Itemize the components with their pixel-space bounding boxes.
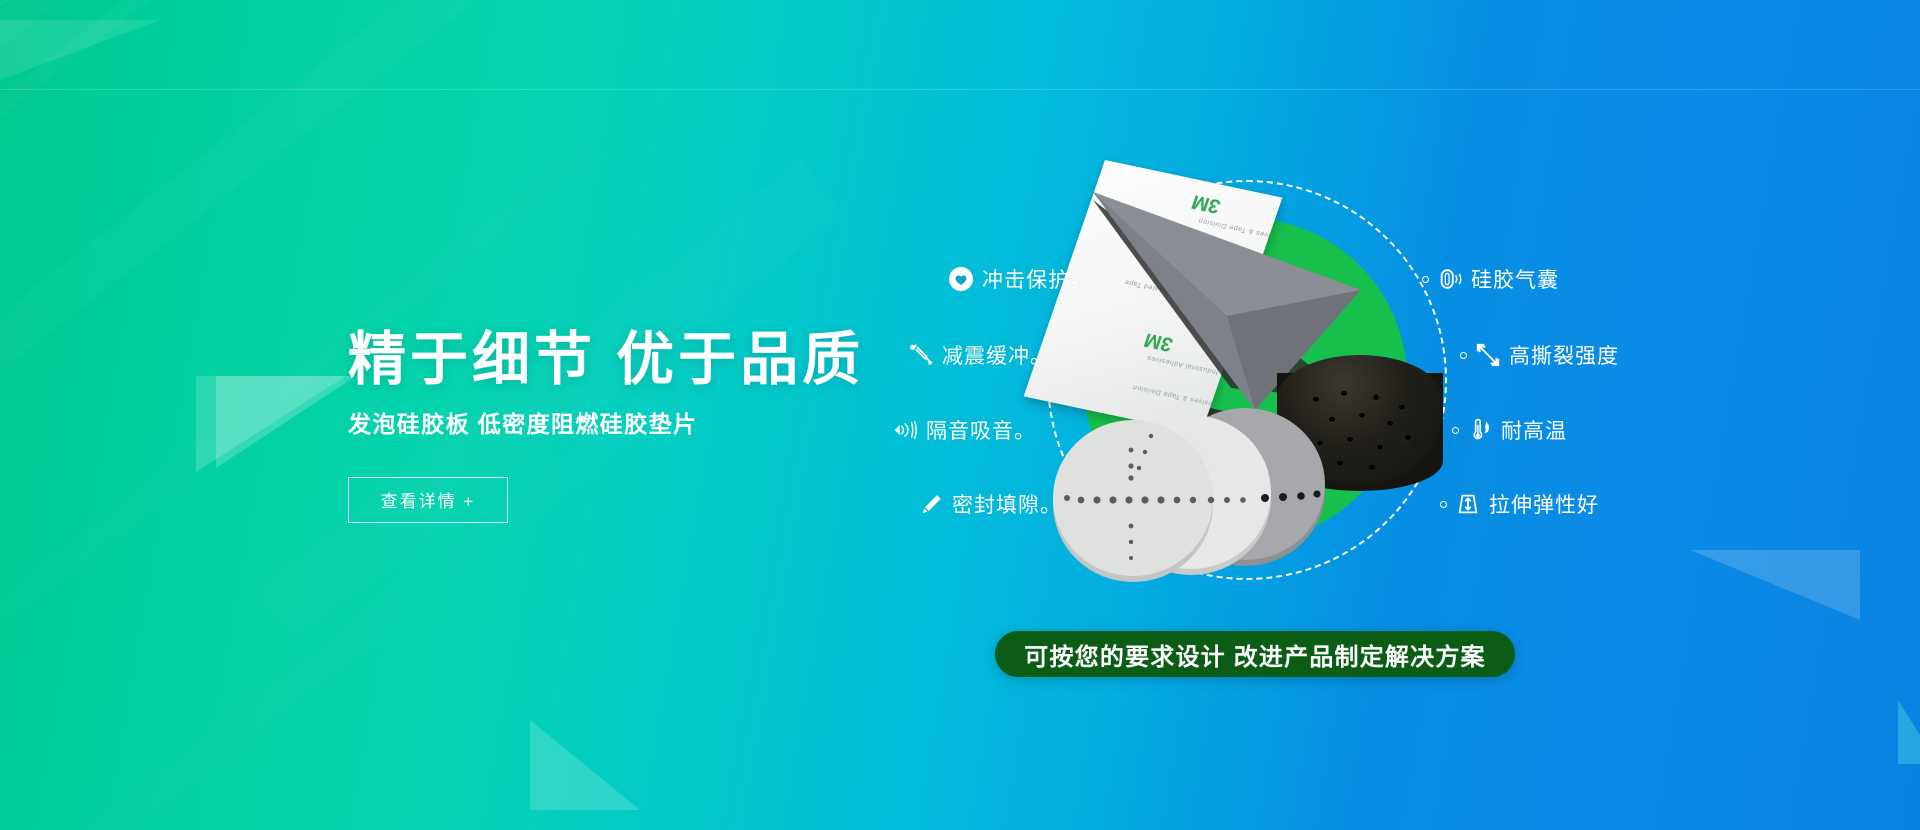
feature-label: 拉伸弹性好 [1489, 489, 1599, 519]
feature-silicone-airbag: 硅胶气囊 [1422, 264, 1559, 294]
feature-high-tear-strength: 高撕裂强度 [1460, 340, 1619, 370]
shield-heart-icon [948, 265, 974, 293]
feature-shock-absorption: 减震缓冲。 [908, 340, 1052, 370]
connector-dot [1440, 501, 1447, 508]
feature-tensile-elasticity: 拉伸弹性好 [1440, 489, 1599, 519]
feature-label: 密封填隙。 [952, 489, 1062, 519]
stretch-arrows-icon [1455, 490, 1481, 518]
connector-dot [1460, 352, 1467, 359]
feature-label: 隔音吸音。 [926, 415, 1036, 445]
feature-seal-gap-filling: 密封填隙。 [918, 489, 1062, 519]
shock-absorber-icon [908, 341, 934, 369]
feature-label: 高撕裂强度 [1509, 340, 1619, 370]
thermometer-flame-icon [1467, 416, 1493, 444]
product-stage: 3M Adhesives & Tape Division 3M Double C… [1015, 160, 1485, 590]
hero-banner: 精于细节 优于品质 发泡硅胶板 低密度阻燃硅胶垫片 查看详情 + 3M Adhe… [0, 0, 1920, 830]
page-title: 精于细节 优于品质 [348, 330, 968, 391]
feature-label: 冲击保护。 [982, 264, 1092, 294]
hero-subtitle: 发泡硅胶板 低密度阻燃硅胶垫片 [348, 405, 968, 439]
feature-label: 耐高温 [1501, 415, 1567, 445]
light-perforated-discs [1015, 160, 1485, 590]
feature-sound-insulation: 隔音吸音。 [892, 415, 1036, 445]
connector-dot [1422, 276, 1429, 283]
airbag-capsule-icon [1437, 265, 1463, 293]
sealant-pen-icon [918, 490, 944, 518]
tear-strength-arrows-icon [1475, 341, 1501, 369]
feature-impact-protection: 冲击保护。 [948, 264, 1092, 294]
solution-pill-banner: 可按您的要求设计 改进产品制定解决方案 [995, 631, 1515, 677]
sound-wave-icon [892, 416, 918, 444]
feature-label: 硅胶气囊 [1471, 264, 1559, 294]
feature-heat-resistance: 耐高温 [1452, 415, 1567, 445]
view-details-button[interactable]: 查看详情 + [348, 477, 508, 523]
hero-copy: 精于细节 优于品质 发泡硅胶板 低密度阻燃硅胶垫片 查看详情 + [348, 330, 968, 523]
connector-dot [1452, 427, 1459, 434]
feature-label: 减震缓冲。 [942, 340, 1052, 370]
